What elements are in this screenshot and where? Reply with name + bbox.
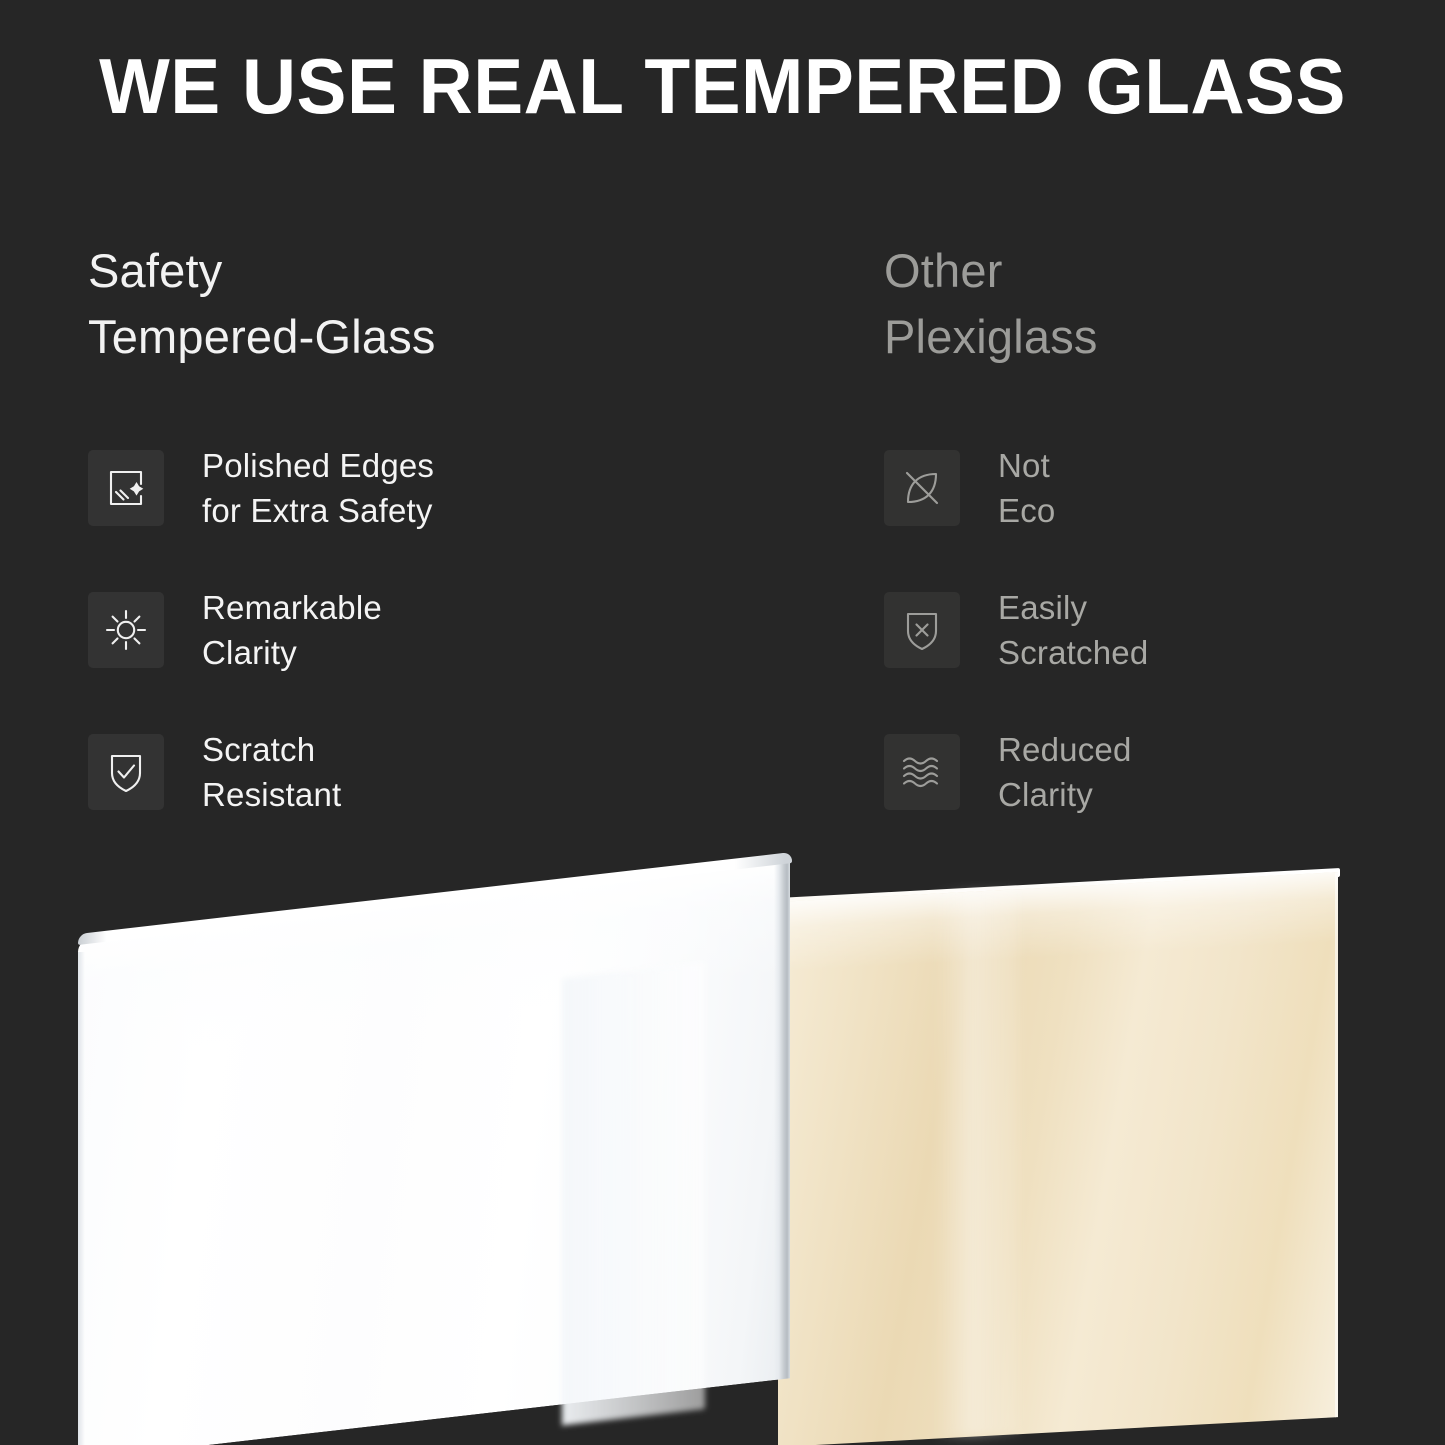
page-title: WE USE REAL TEMPERED GLASS: [29, 42, 1416, 130]
feature-label: Easily Scratched: [998, 585, 1148, 675]
column-plexiglass: Other Plexiglass Not Eco: [884, 238, 1444, 370]
feature-row: Polished Edges for Extra Safety: [88, 450, 788, 526]
plexiglass-panel: [778, 872, 1338, 1445]
feature-row: Remarkable Clarity: [88, 592, 788, 668]
feature-row: Easily Scratched: [884, 592, 1444, 668]
shield-check-icon: [88, 734, 164, 810]
wavy-lines-icon: [884, 734, 960, 810]
polished-edge-sparkle-icon: [88, 450, 164, 526]
feature-label: Reduced Clarity: [998, 727, 1132, 817]
feature-row: Not Eco: [884, 450, 1444, 526]
infographic-root: WE USE REAL TEMPERED GLASS Safety Temper…: [0, 0, 1445, 1445]
feature-label: Remarkable Clarity: [202, 585, 382, 675]
feature-row: Reduced Clarity: [884, 734, 1444, 810]
feature-list-tempered-glass: Polished Edges for Extra Safety Remarkab…: [88, 450, 788, 876]
column-tempered-glass: Safety Tempered-Glass Polished Edges for…: [88, 238, 788, 370]
feature-label: Scratch Resistant: [202, 727, 341, 817]
feature-label: Polished Edges for Extra Safety: [202, 443, 434, 533]
sun-brightness-icon: [88, 592, 164, 668]
feature-label: Not Eco: [998, 443, 1055, 533]
feature-list-plexiglass: Not Eco Easily Scratched: [884, 450, 1444, 876]
leaf-crossed-out-icon: [884, 450, 960, 526]
tempered-glass-panel: [78, 858, 790, 1445]
column-heading-plexiglass: Other Plexiglass: [884, 238, 1444, 370]
column-heading-tempered-glass: Safety Tempered-Glass: [88, 238, 788, 370]
product-photo: [0, 840, 1445, 1445]
tempered-glass-polished-left-edge: [78, 952, 85, 1445]
shield-x-icon: [884, 592, 960, 668]
feature-row: Scratch Resistant: [88, 734, 788, 810]
